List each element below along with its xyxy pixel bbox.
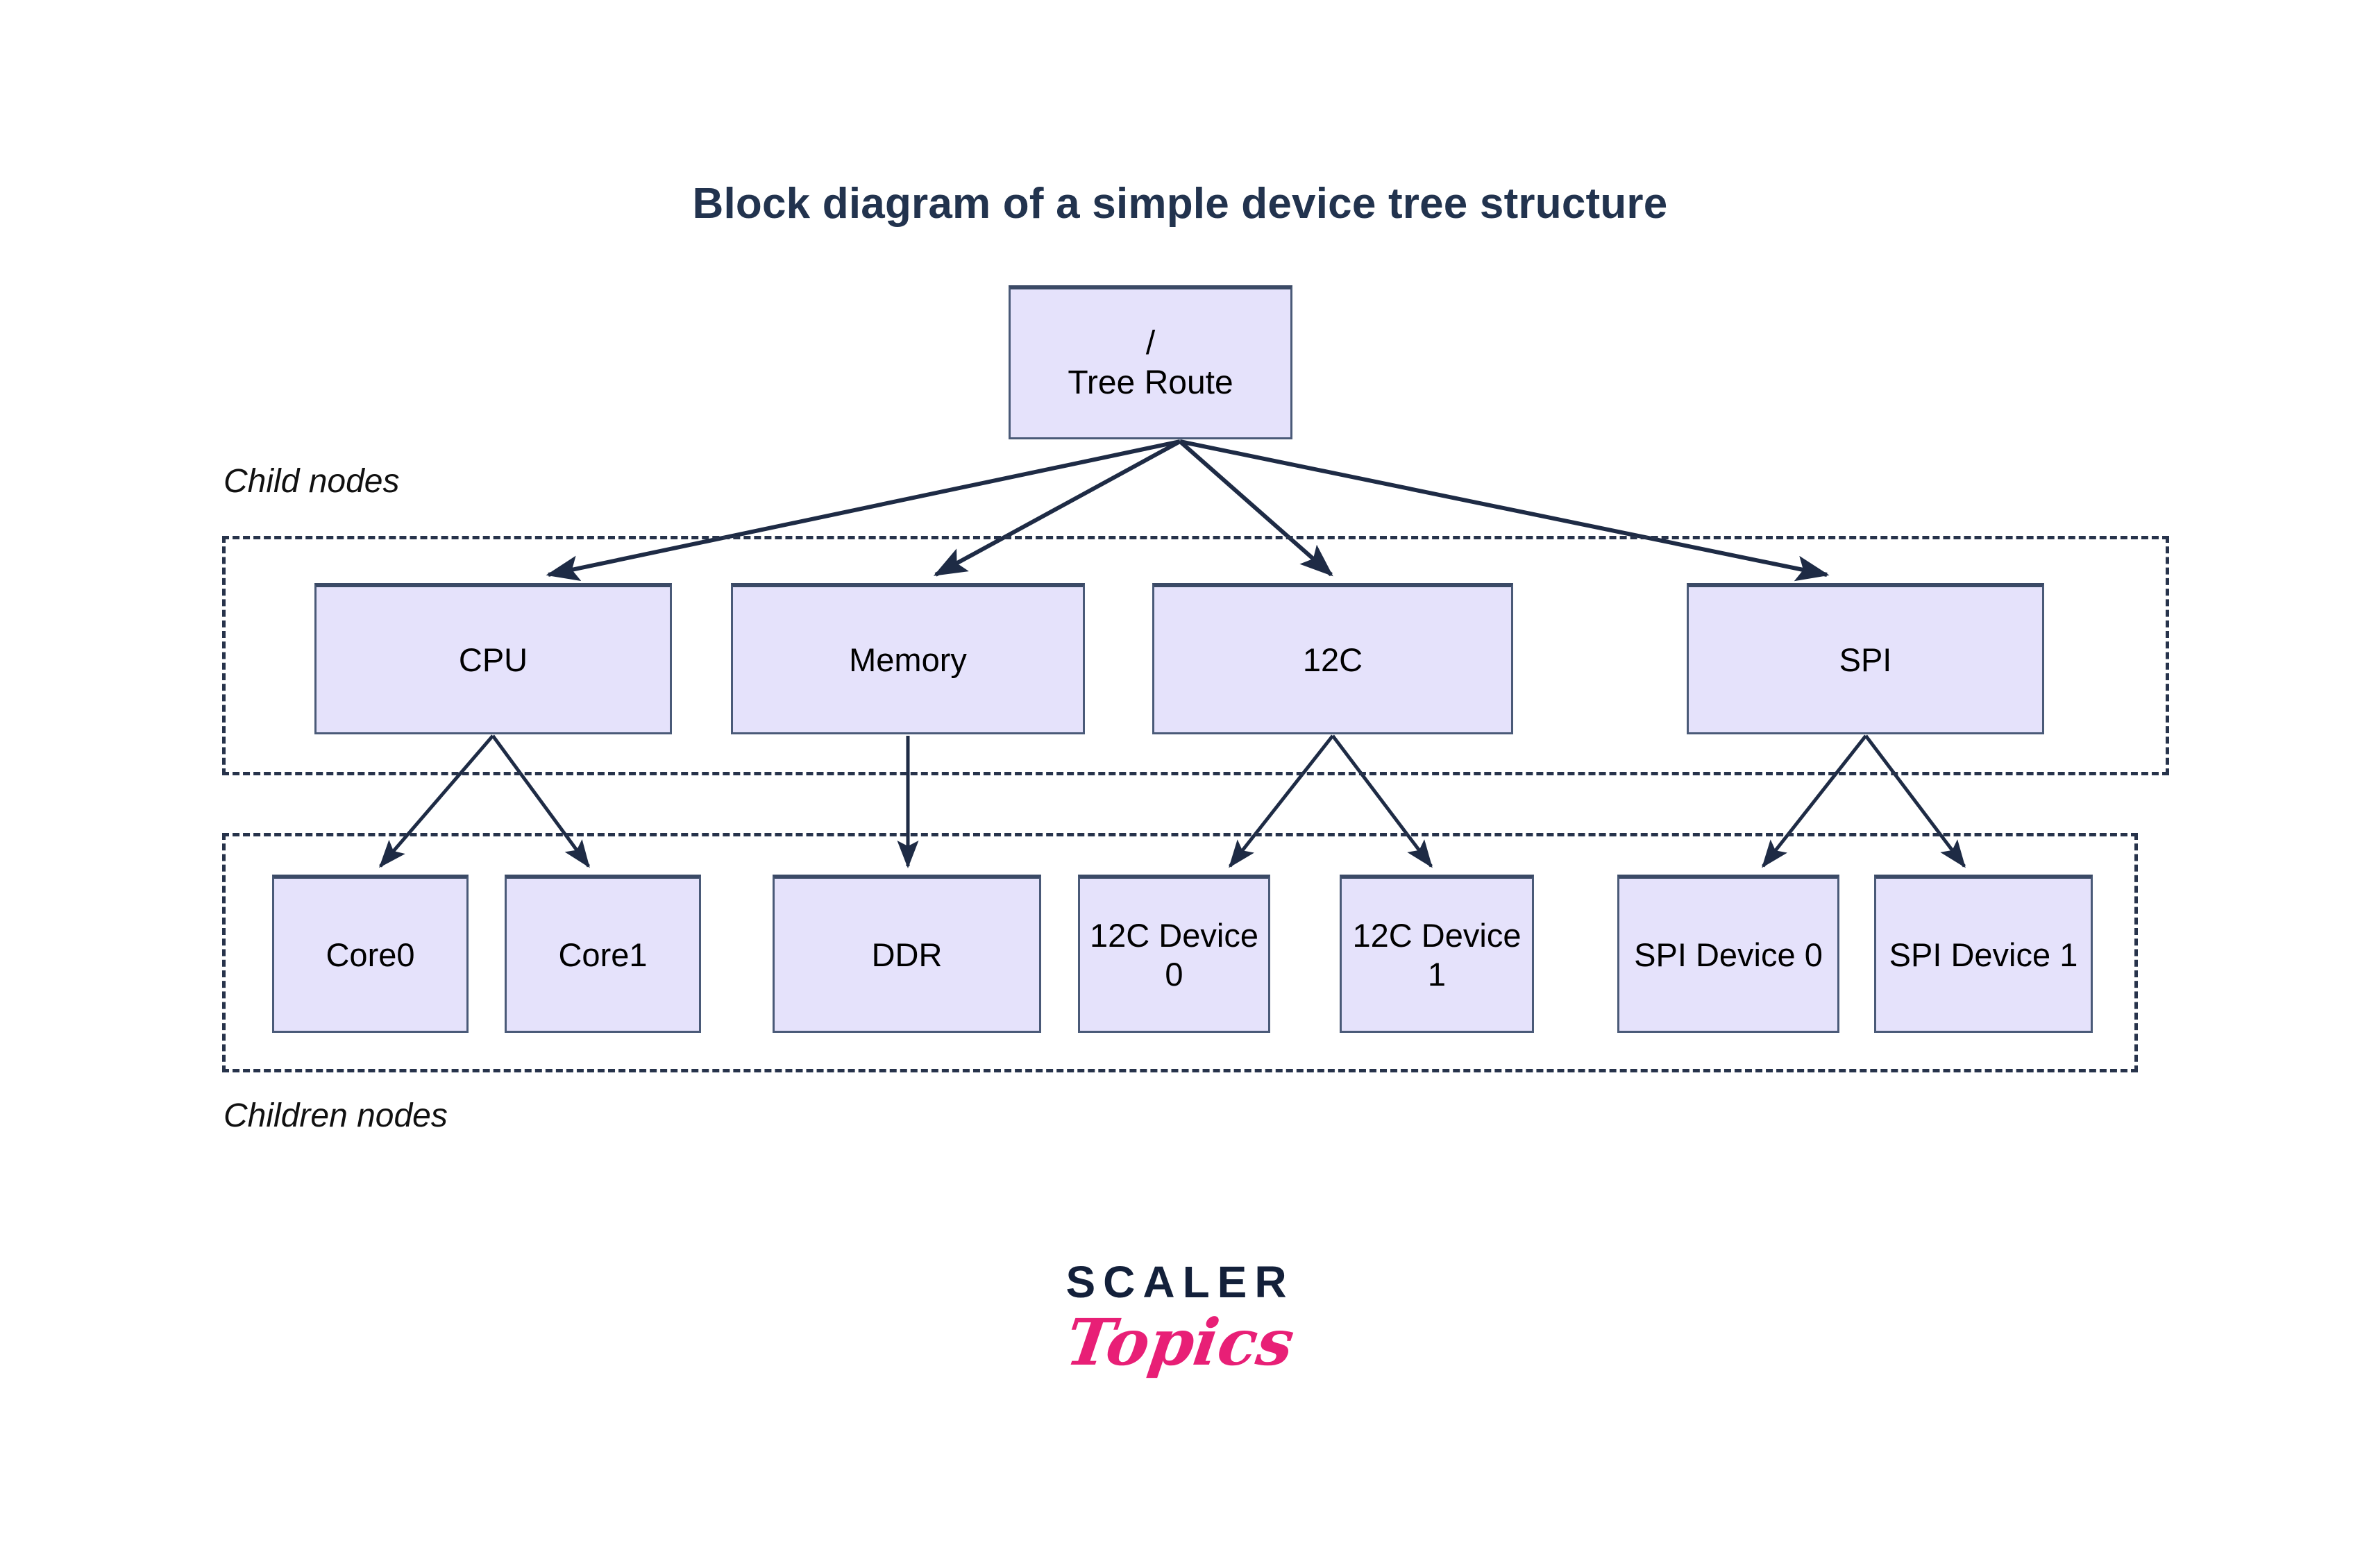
node-core0[interactable]: Core0: [272, 875, 469, 1033]
node-memory[interactable]: Memory: [731, 583, 1085, 734]
node-spi-device-0[interactable]: SPI Device 0: [1617, 875, 1839, 1033]
node-core1[interactable]: Core1: [505, 875, 701, 1033]
node-cpu[interactable]: CPU: [314, 583, 672, 734]
scaler-topics-logo: SCALER Topics: [0, 1256, 2360, 1380]
logo-scaler-wordmark: SCALER: [0, 1256, 2360, 1308]
node-12c-device-1[interactable]: 12C Device 1: [1340, 875, 1534, 1033]
node-spi-device-1[interactable]: SPI Device 1: [1874, 875, 2093, 1033]
node-spi[interactable]: SPI: [1687, 583, 2044, 734]
child-nodes-label: Child nodes: [224, 462, 400, 500]
logo-topics-wordmark: Topics: [0, 1305, 2360, 1380]
node-tree-root[interactable]: / Tree Route: [1009, 285, 1292, 439]
diagram-canvas: Block diagram of a simple device tree st…: [0, 0, 2360, 1568]
node-12c[interactable]: 12C: [1152, 583, 1513, 734]
children-nodes-label: Children nodes: [224, 1097, 448, 1135]
node-12c-device-0[interactable]: 12C Device 0: [1078, 875, 1270, 1033]
page-title: Block diagram of a simple device tree st…: [0, 179, 2360, 228]
node-ddr[interactable]: DDR: [773, 875, 1041, 1033]
